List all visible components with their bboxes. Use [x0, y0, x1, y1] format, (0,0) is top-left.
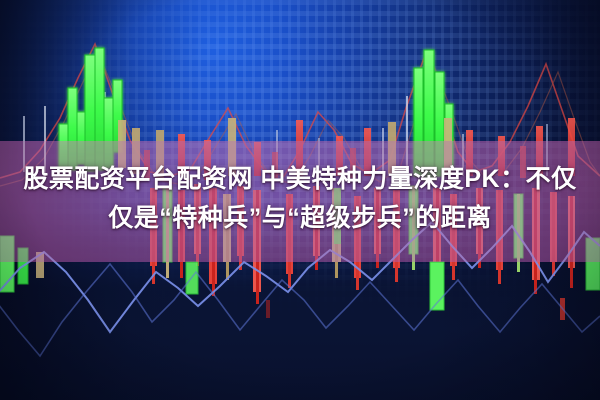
- stock-chart-graphic: [0, 0, 600, 400]
- banner-image: 股票配资平台配资网 中美特种力量深度PK：不仅 仅是“特种兵”与“超级步兵”的距…: [0, 0, 600, 400]
- lower-candles: [0, 184, 600, 320]
- upper-tan-candles: [118, 118, 452, 178]
- lower-blue-line: [0, 222, 600, 356]
- lower-left-green-candles: [0, 236, 600, 310]
- upper-red-candles: [144, 118, 575, 180]
